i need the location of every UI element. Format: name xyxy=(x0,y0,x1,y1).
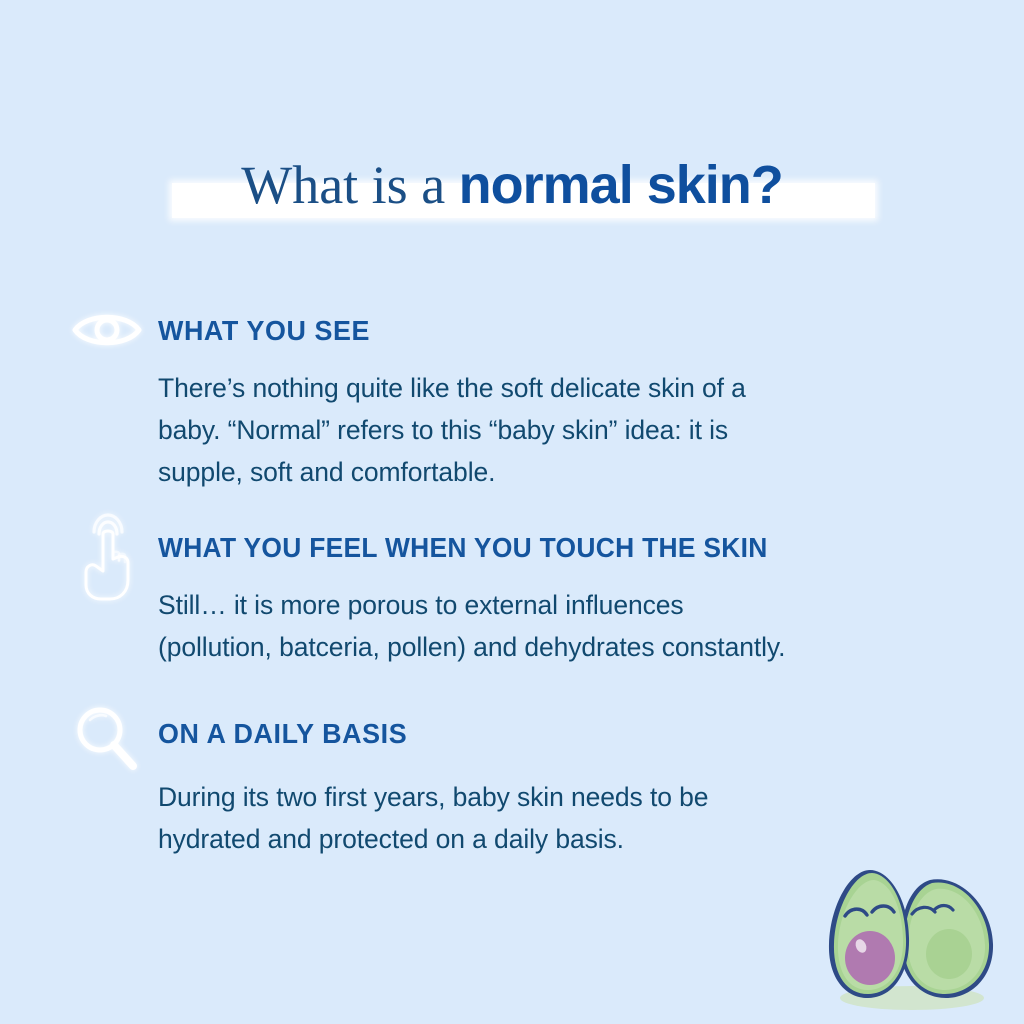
title-text: What is a normal skin? xyxy=(241,155,783,215)
magnifying-glass-icon xyxy=(68,704,146,778)
page-title: What is a normal skin? xyxy=(0,140,1024,230)
title-bold-part: normal skin? xyxy=(459,155,783,215)
infographic-card: What is a normal skin? WHAT YOU SEE Ther… xyxy=(0,0,1024,1024)
section-heading: ON A DAILY BASIS xyxy=(158,718,407,750)
section-body: Still… it is more porous to external inf… xyxy=(158,584,978,668)
section-body: There’s nothing quite like the soft deli… xyxy=(158,367,978,493)
section-body: During its two first years, baby skin ne… xyxy=(158,776,978,860)
eye-icon xyxy=(68,305,146,379)
avocado-left xyxy=(829,870,909,998)
section-heading: WHAT YOU FEEL WHEN YOU TOUCH THE SKIN xyxy=(158,532,768,564)
touch-hand-icon xyxy=(68,510,146,584)
title-light-part: What is a xyxy=(241,155,458,215)
avocado-illustration xyxy=(812,858,1012,1018)
section-heading: WHAT YOU SEE xyxy=(158,315,370,347)
avocado-right xyxy=(900,879,993,998)
